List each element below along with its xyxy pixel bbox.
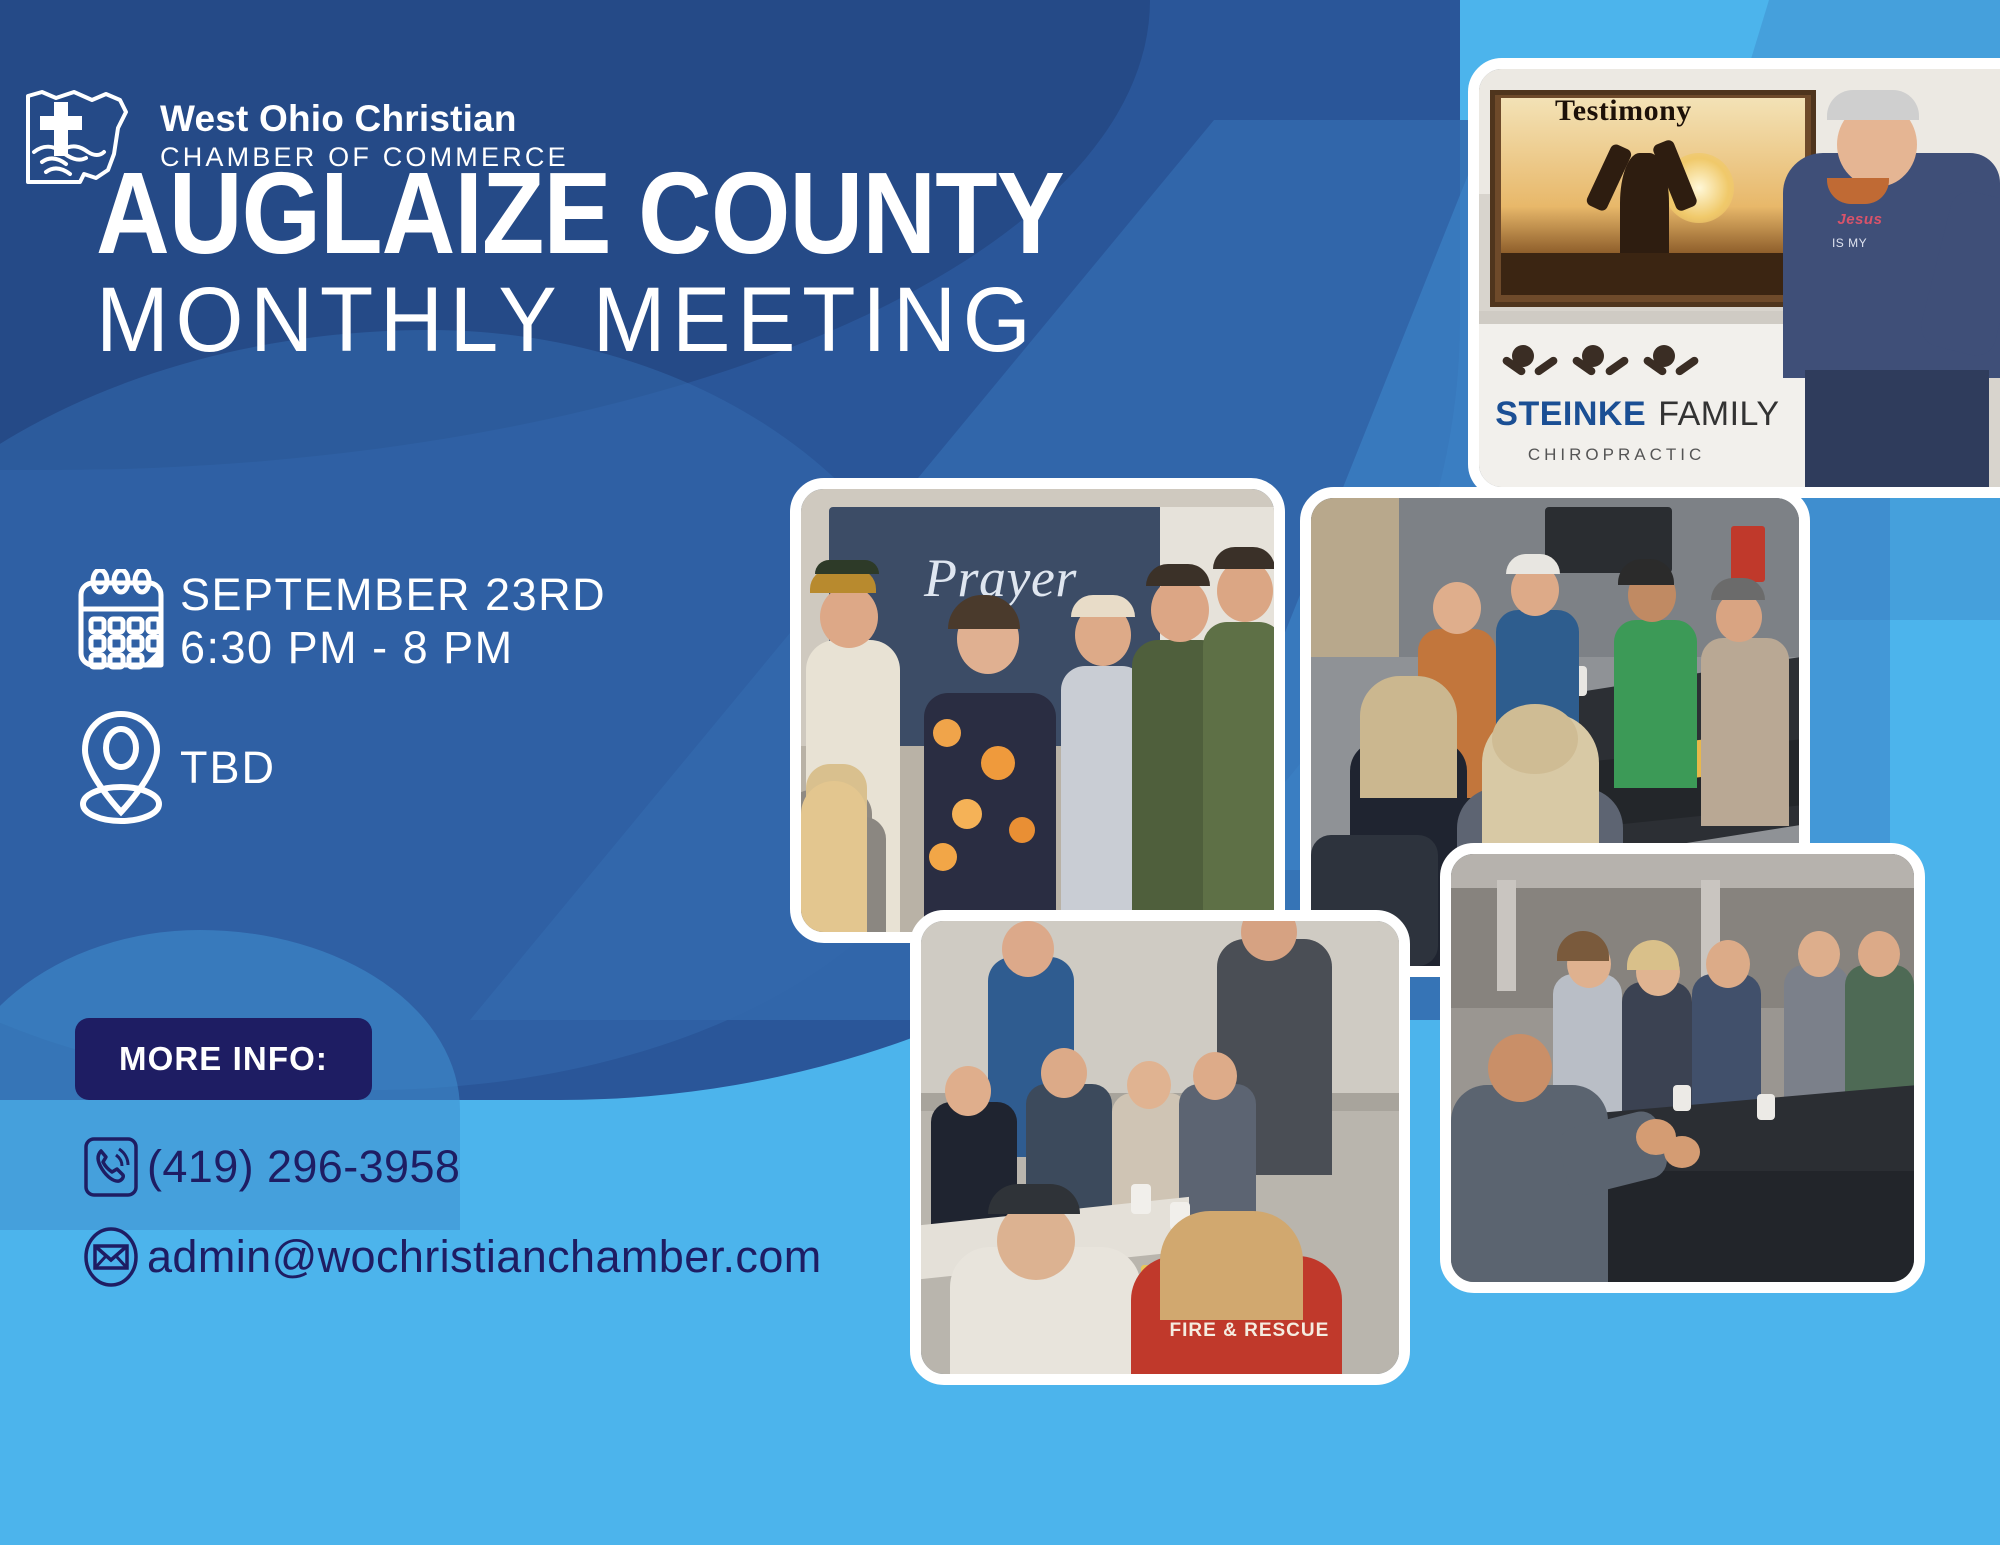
event-date-time: SEPTEMBER 23RD 6:30 PM - 8 PM [180, 568, 606, 674]
event-flyer: West Ohio Christian CHAMBER OF COMMERCE … [0, 0, 2000, 1545]
phone-row[interactable]: (419) 296-3958 [75, 1135, 822, 1199]
more-info-button[interactable]: MORE INFO: [75, 1018, 372, 1100]
event-location-value: TBD [180, 741, 276, 794]
email-row[interactable]: admin@wochristianchamber.com [75, 1225, 822, 1289]
conversation-photo [1440, 843, 1925, 1293]
event-date-row: SEPTEMBER 23RD 6:30 PM - 8 PM [62, 568, 606, 674]
banner-steinke: STEINKE [1495, 395, 1646, 434]
phone-icon [75, 1135, 147, 1199]
event-location-row: TBD [62, 708, 606, 826]
map-pin-icon [62, 708, 180, 826]
banner-family: FAMILY [1658, 395, 1779, 434]
email-address: admin@wochristianchamber.com [147, 1231, 822, 1283]
contact-info: (419) 296-3958 admin@wochristianchamber.… [75, 1135, 822, 1289]
banner-chiropractic: CHIROPRACTIC [1528, 445, 1705, 465]
envelope-icon [75, 1225, 147, 1289]
testimony-speaker-photo: Testimony STEINKE FAMILY CHIROPRACTIC [1468, 58, 2000, 498]
logo-org-name: West Ohio Christian [160, 100, 569, 137]
page-title: AUGLAIZE COUNTY MONTHLY MEETING [96, 160, 1196, 366]
event-details: SEPTEMBER 23RD 6:30 PM - 8 PM TBD [62, 568, 606, 826]
calendar-icon [62, 569, 180, 673]
prayer-group-photo: Prayer [790, 478, 1285, 943]
meeting-room-photo: FIRE & RESCUE [910, 910, 1410, 1385]
headline-line-1: AUGLAIZE COUNTY [96, 160, 1064, 268]
headline-line-2: MONTHLY MEETING [96, 274, 1141, 366]
phone-number: (419) 296-3958 [147, 1141, 460, 1193]
